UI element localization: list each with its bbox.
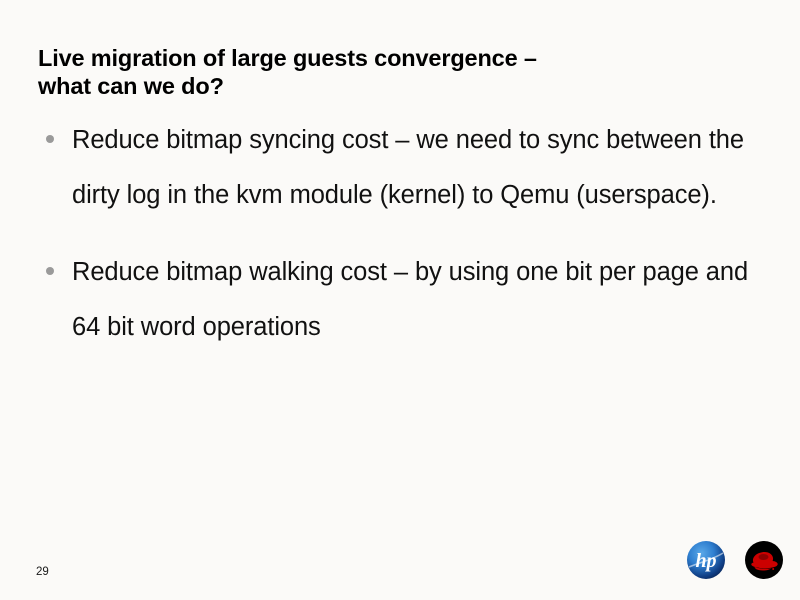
- bullet-list: Reduce bitmap syncing cost – we need to …: [44, 113, 774, 377]
- logo-strip: hp: [682, 536, 790, 584]
- list-item: Reduce bitmap walking cost – by using on…: [44, 245, 774, 355]
- redhat-logo-icon: [744, 540, 784, 580]
- page-title: Live migration of large guests convergen…: [38, 44, 738, 100]
- slide-canvas: Live migration of large guests convergen…: [0, 0, 800, 600]
- bullet-text: Reduce bitmap syncing cost – we need to …: [72, 113, 774, 223]
- bullet-text: Reduce bitmap walking cost – by using on…: [72, 245, 774, 355]
- round-bullet-icon: [46, 267, 54, 275]
- svg-text:hp: hp: [695, 550, 716, 572]
- page-number: 29: [36, 566, 49, 578]
- hp-logo-icon: hp: [686, 540, 726, 580]
- list-item: Reduce bitmap syncing cost – we need to …: [44, 113, 774, 223]
- round-bullet-icon: [46, 135, 54, 143]
